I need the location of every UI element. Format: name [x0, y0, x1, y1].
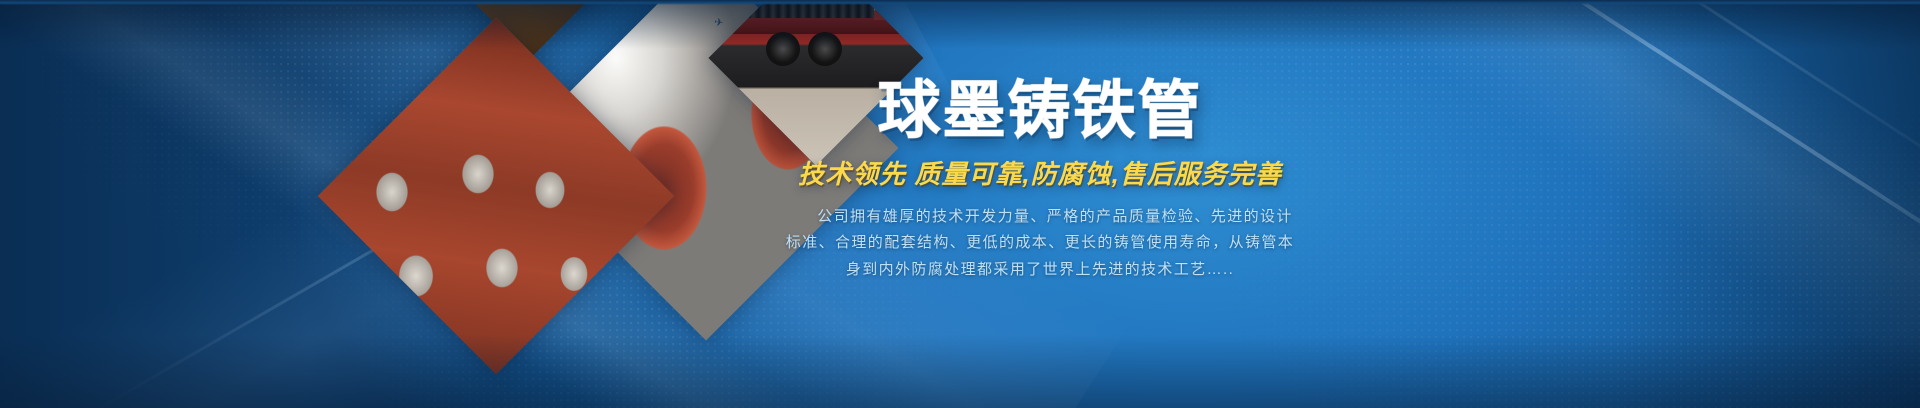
top-edge-shadow	[0, 0, 1920, 5]
product-banner: ✈ ✈ 球墨铸铁管 技术领先 质量可靠,防腐蚀,售后服务完善 公司拥有雄厚的技术…	[0, 0, 1920, 408]
vignette-overlay	[0, 0, 1920, 408]
